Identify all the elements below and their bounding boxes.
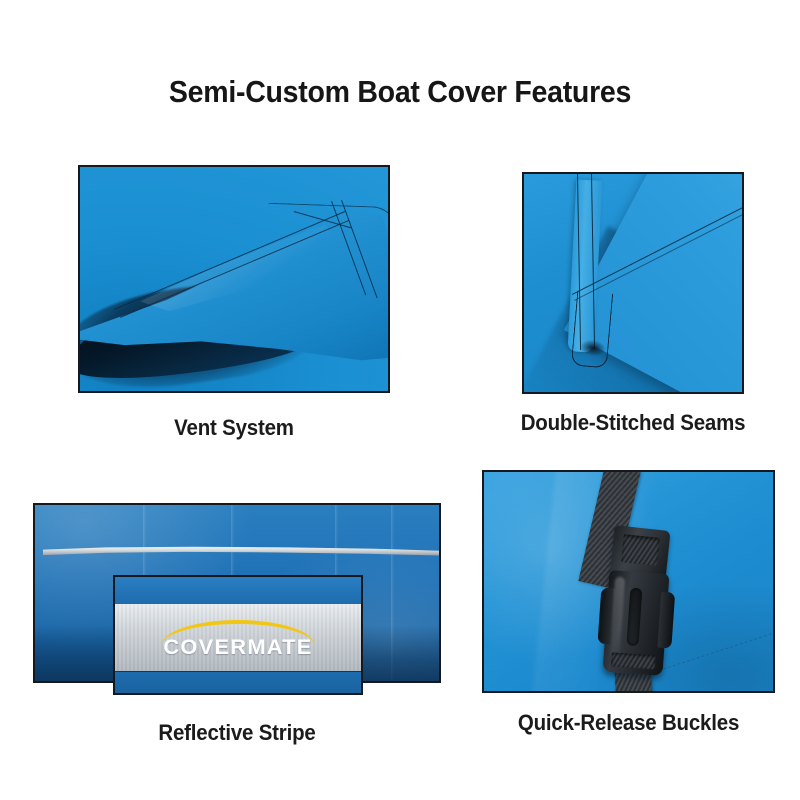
feature-caption-reflective-stripe: Reflective Stripe	[47, 720, 426, 746]
vent-flap-icon	[80, 167, 388, 391]
buckle-male-body	[603, 570, 670, 676]
feature-caption-vent-system: Vent System	[89, 415, 379, 441]
inset-reflective-strip: COVERMATE	[115, 604, 361, 672]
inset-image-covermate-closeup: COVERMATE	[113, 575, 363, 695]
feature-image-quick-release-buckles	[482, 470, 775, 693]
covermate-logo: COVERMATE	[153, 619, 323, 663]
seam-tail-outline	[571, 291, 613, 369]
buckle-release-wing-right	[657, 592, 675, 649]
buckle-strap-slot	[621, 534, 660, 566]
feature-caption-quick-release-buckles: Quick-Release Buckles	[492, 710, 764, 736]
stitched-corner-icon	[524, 174, 742, 392]
seam-thread-knot	[579, 338, 607, 357]
inset-blue-band-bottom	[115, 671, 361, 693]
inset-blue-band-top	[115, 577, 361, 604]
feature-caption-double-stitched-seams: Double-Stitched Seams	[494, 410, 773, 436]
logo-wordmark: COVERMATE	[150, 636, 327, 660]
page-title: Semi-Custom Boat Cover Features	[32, 74, 768, 110]
buckle-center-groove	[626, 588, 642, 647]
buckle-strap-slot	[611, 652, 656, 669]
feature-image-double-stitched-seams	[522, 172, 744, 394]
feature-image-vent-system	[78, 165, 390, 393]
side-release-buckle-icon	[484, 472, 773, 691]
